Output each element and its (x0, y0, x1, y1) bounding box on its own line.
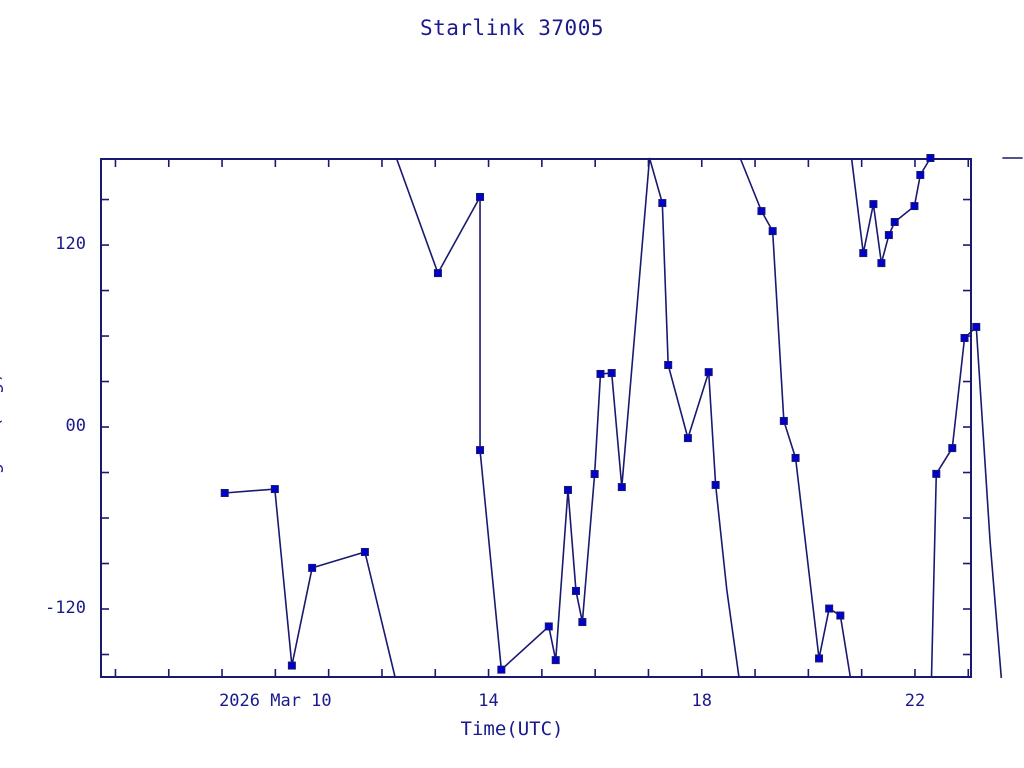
data-point-marker (288, 662, 295, 669)
data-point-marker (973, 323, 980, 330)
series-segment (396, 158, 739, 678)
series-segment (225, 489, 396, 678)
series-lines (225, 158, 1023, 678)
x-tick-label: 18 (582, 691, 822, 711)
data-point-marker (885, 232, 892, 239)
series-markers (221, 155, 980, 674)
y-tick-label: -120 (0, 598, 86, 618)
data-point-marker (933, 470, 940, 477)
data-point-marker (545, 623, 552, 630)
x-tick-label: 22 (795, 691, 1024, 711)
data-point-marker (949, 445, 956, 452)
series-segment (740, 158, 850, 678)
data-point-marker (477, 447, 484, 454)
data-point-marker (564, 486, 571, 493)
data-point-marker (780, 417, 787, 424)
x-tick-label: 14 (369, 691, 609, 711)
data-point-marker (608, 370, 615, 377)
y-tick-label: 00 (0, 416, 86, 436)
data-point-marker (477, 193, 484, 200)
page-title: Starlink 37005 (0, 16, 1024, 40)
data-point-marker (705, 369, 712, 376)
data-point-marker (361, 548, 368, 555)
data-point-marker (891, 219, 898, 226)
data-point-marker (572, 587, 579, 594)
data-point-marker (591, 471, 598, 478)
data-point-marker (927, 155, 934, 162)
data-point-marker (597, 370, 604, 377)
data-point-marker (878, 260, 885, 267)
data-point-marker (816, 655, 823, 662)
data-point-marker (309, 564, 316, 571)
chart-page: Starlink 37005 Long E (deg) Time(UTC) 12… (0, 0, 1024, 768)
data-point-marker (552, 657, 559, 664)
series-canvas (100, 158, 972, 678)
data-point-marker (870, 201, 877, 208)
data-point-marker (961, 335, 968, 342)
data-point-marker (792, 454, 799, 461)
x-tick-label: 2026 Mar 10 (155, 691, 395, 711)
data-point-marker (579, 619, 586, 626)
y-axis-title: Long E (deg) (0, 340, 4, 540)
data-point-marker (221, 489, 228, 496)
data-point-marker (684, 435, 691, 442)
axis-ticks (100, 158, 972, 678)
data-point-marker (271, 486, 278, 493)
data-point-marker (837, 612, 844, 619)
data-point-marker (769, 228, 776, 235)
data-point-marker (917, 171, 924, 178)
data-point-marker (665, 362, 672, 369)
data-point-marker (911, 203, 918, 210)
data-point-marker (618, 484, 625, 491)
data-point-marker (712, 481, 719, 488)
data-point-marker (434, 270, 441, 277)
data-point-marker (659, 200, 666, 207)
plot-area (100, 158, 972, 678)
data-point-marker (758, 208, 765, 215)
data-point-marker (826, 605, 833, 612)
y-tick-label: 120 (0, 234, 86, 254)
x-axis-title: Time(UTC) (0, 718, 1024, 740)
data-point-marker (498, 666, 505, 673)
data-point-marker (860, 250, 867, 257)
series-segment (931, 327, 1001, 678)
